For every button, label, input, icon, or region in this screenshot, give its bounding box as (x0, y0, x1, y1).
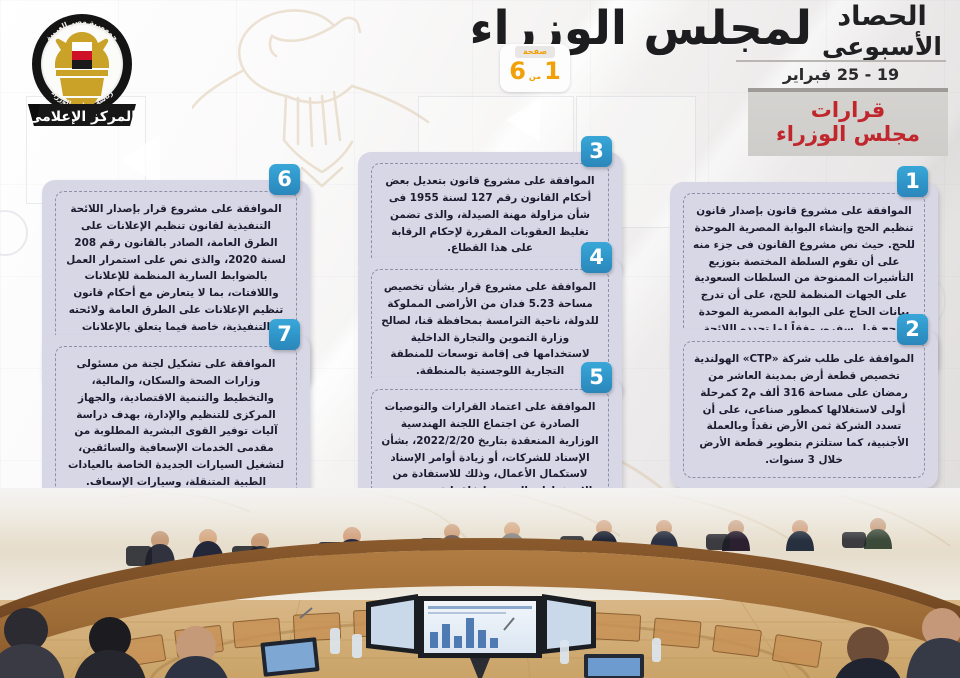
section-label-line-2: مجلس الوزراء (748, 123, 948, 147)
section-label-cabinet-decisions: قرارات مجلس الوزراء (748, 88, 948, 156)
decision-text: الموافقة على مشروع قرار بشأن تخصيص مساحة… (381, 279, 599, 380)
weekly-harvest-title: الحصاد الأسبوعى (818, 2, 946, 61)
decision-card-inner: الموافقة على مشروع قرار بشأن تخصيص مساحة… (371, 269, 609, 389)
decision-number-badge: 7 (269, 319, 300, 350)
date-range: 19 - 25 فبراير (736, 60, 946, 88)
decision-text: الموافقة على تشكيل لجنة من مسئولى وزارات… (65, 356, 287, 491)
decision-text: الموافقة على مشروع قانون بتعديل بعض أحكا… (381, 173, 599, 257)
page-of-label: من (529, 72, 541, 81)
decision-number-badge: 6 (269, 164, 300, 195)
decision-card-inner: الموافقة على تشكيل لجنة من مسئولى وزارات… (55, 346, 297, 500)
decision-number-badge: 4 (581, 242, 612, 273)
decision-card-2: 2 الموافقة على طلب شركة «CTP» الهولندية … (670, 330, 938, 488)
page-total: 6 (509, 59, 526, 83)
page-current: 1 (544, 59, 561, 83)
page-numbers: 1 من 6 (509, 59, 561, 83)
cabinet-meeting-photo (0, 488, 960, 678)
decision-card-inner: الموافقة على مشروع قانون بتعديل بعض أحكا… (371, 163, 609, 266)
play-triangle-icon (120, 134, 160, 186)
page-indicator: صفحة 1 من 6 (500, 44, 570, 92)
decision-card-7: 7 الموافقة على تشكيل لجنة من مسئولى وزار… (42, 335, 310, 510)
decision-number-badge: 3 (581, 136, 612, 167)
section-label-line-1: قرارات (748, 99, 948, 123)
svg-text:المركز الإعلامى: المركز الإعلامى (28, 109, 136, 125)
decision-number-badge: 1 (897, 166, 928, 197)
cabinet-media-center-logo: جمهورية مصر العربية رئاسة مجلس الوزراء ا… (22, 8, 142, 132)
decision-card-inner: الموافقة على طلب شركة «CTP» الهولندية تخ… (683, 341, 925, 478)
harvest-line-2: الأسبوعى (818, 33, 946, 62)
infographic-canvas: جمهورية مصر العربية رئاسة مجلس الوزراء ا… (0, 0, 960, 678)
decision-number-badge: 5 (581, 362, 612, 393)
decision-text: الموافقة على طلب شركة «CTP» الهولندية تخ… (693, 351, 915, 469)
decision-number-badge: 2 (897, 314, 928, 345)
play-triangle-icon (506, 98, 540, 142)
harvest-line-1: الحصاد (818, 2, 946, 33)
